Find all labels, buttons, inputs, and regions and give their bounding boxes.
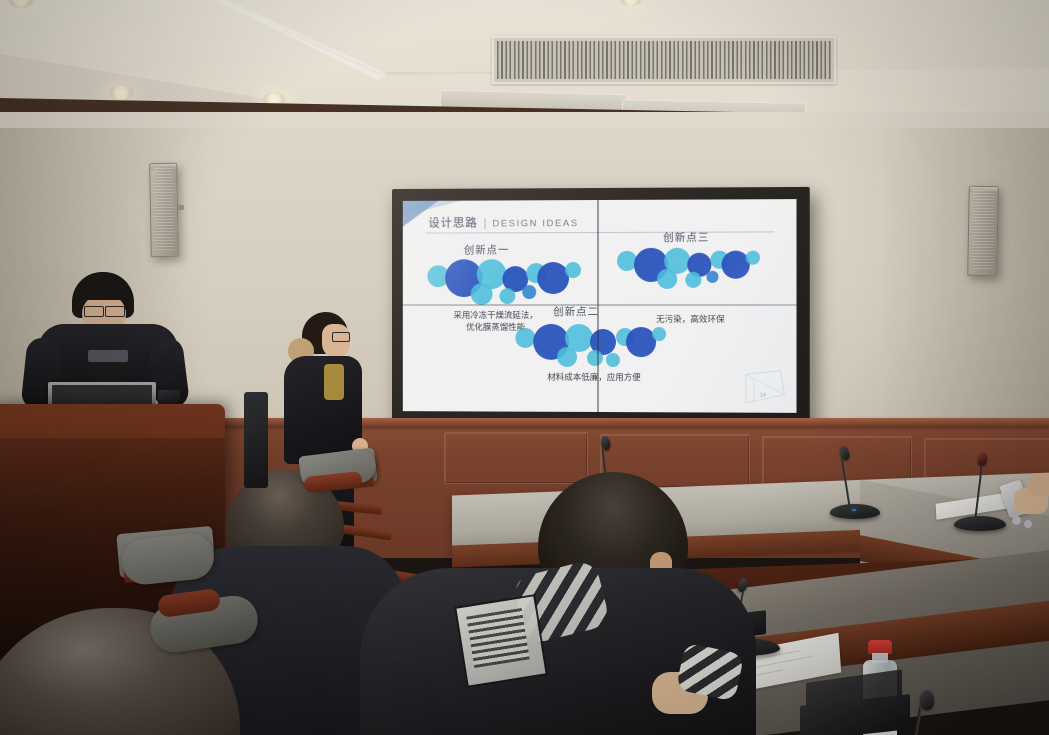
speaker-grille bbox=[971, 190, 994, 269]
quadrant-caption-two: 材料成本低廉，应用方便 bbox=[505, 372, 683, 385]
conference-room-photo: 设计思路 | DESIGN IDEAS 创新点一 采用冷冻干燥流延法， 优化膜蒸… bbox=[0, 0, 1049, 735]
quadrant-label-two: 创新点二 bbox=[553, 304, 599, 319]
woman-scarf bbox=[324, 364, 344, 400]
bubble bbox=[706, 271, 718, 283]
bubble bbox=[587, 350, 603, 366]
bubble bbox=[471, 283, 493, 305]
slide-title-cn: 设计思路 bbox=[428, 214, 477, 230]
forearm-right bbox=[1028, 474, 1049, 496]
screen-seam-vertical bbox=[597, 200, 598, 412]
audience-center bbox=[360, 472, 760, 735]
keys[interactable] bbox=[1012, 516, 1021, 525]
bubble bbox=[515, 328, 535, 348]
slide-title-rule bbox=[426, 231, 774, 233]
chair-foreground-left[interactable] bbox=[150, 600, 270, 670]
quadrant-label-three: 创新点三 bbox=[663, 230, 709, 245]
mic-led-indicator bbox=[852, 509, 856, 511]
presenter-glasses-icon-2 bbox=[105, 306, 125, 317]
chair-left-back-2[interactable] bbox=[122, 536, 222, 600]
bubble bbox=[522, 285, 536, 299]
woman-glasses-icon bbox=[332, 332, 350, 342]
bubble bbox=[652, 327, 666, 341]
wall-speaker-right bbox=[967, 186, 999, 277]
woman-coat bbox=[284, 356, 362, 464]
bubble bbox=[557, 347, 577, 367]
video-wall-display[interactable]: 设计思路 | DESIGN IDEAS 创新点一 采用冷冻干燥流延法， 优化膜蒸… bbox=[392, 187, 810, 429]
air-return-grill-icon bbox=[492, 36, 836, 84]
bubble bbox=[606, 353, 620, 367]
hoodie-graphic-inner bbox=[466, 608, 529, 668]
downlight-icon-2 bbox=[108, 86, 134, 100]
bubble bbox=[746, 251, 760, 265]
bubble-cluster-one bbox=[421, 256, 590, 308]
bubble bbox=[565, 262, 581, 278]
bubble bbox=[657, 269, 677, 289]
mic-stem bbox=[914, 706, 922, 735]
chair-behind-woman[interactable] bbox=[300, 452, 384, 512]
bottle-cap bbox=[868, 640, 892, 654]
slide-page-number: 14 bbox=[759, 393, 766, 399]
slide-title-divider: | bbox=[484, 217, 487, 229]
presenter-shirt-print bbox=[88, 350, 128, 362]
wall-shadow-right bbox=[879, 128, 1049, 438]
slide-title: 设计思路 | DESIGN IDEAS bbox=[428, 214, 578, 230]
keys[interactable] bbox=[1024, 520, 1032, 528]
slide-watermark-icon bbox=[740, 364, 789, 406]
display-screen: 设计思路 | DESIGN IDEAS 创新点一 采用冷冻干燥流延法， 优化膜蒸… bbox=[403, 199, 797, 413]
bubble-cluster-two bbox=[509, 320, 677, 372]
presenter-fringe bbox=[76, 278, 132, 300]
speaker-grille bbox=[153, 167, 174, 250]
floor-speaker-stand bbox=[244, 392, 268, 488]
bubble-cluster-three bbox=[613, 244, 770, 294]
bubble bbox=[499, 288, 515, 304]
gooseneck-microphone[interactable] bbox=[958, 452, 996, 530]
bubble bbox=[537, 262, 569, 294]
mic-base bbox=[830, 504, 880, 519]
presenter-glasses-icon bbox=[84, 306, 104, 317]
bubble bbox=[685, 272, 701, 288]
screen-seam-horizontal bbox=[403, 304, 797, 306]
gooseneck-microphone[interactable] bbox=[838, 446, 872, 516]
mic-stem bbox=[841, 457, 851, 509]
mic-stem bbox=[974, 464, 983, 522]
slide-title-en: DESIGN IDEAS bbox=[492, 218, 578, 229]
speaker-mount-left bbox=[178, 205, 184, 210]
presentation-slide: 设计思路 | DESIGN IDEAS 创新点一 采用冷冻干燥流延法， 优化膜蒸… bbox=[403, 199, 797, 413]
mic-base bbox=[954, 516, 1006, 531]
quadrant-label-one: 创新点一 bbox=[464, 242, 510, 257]
wall-speaker-left bbox=[149, 163, 179, 257]
vent-grill-pattern bbox=[497, 41, 831, 79]
chair-headrest bbox=[120, 531, 216, 586]
